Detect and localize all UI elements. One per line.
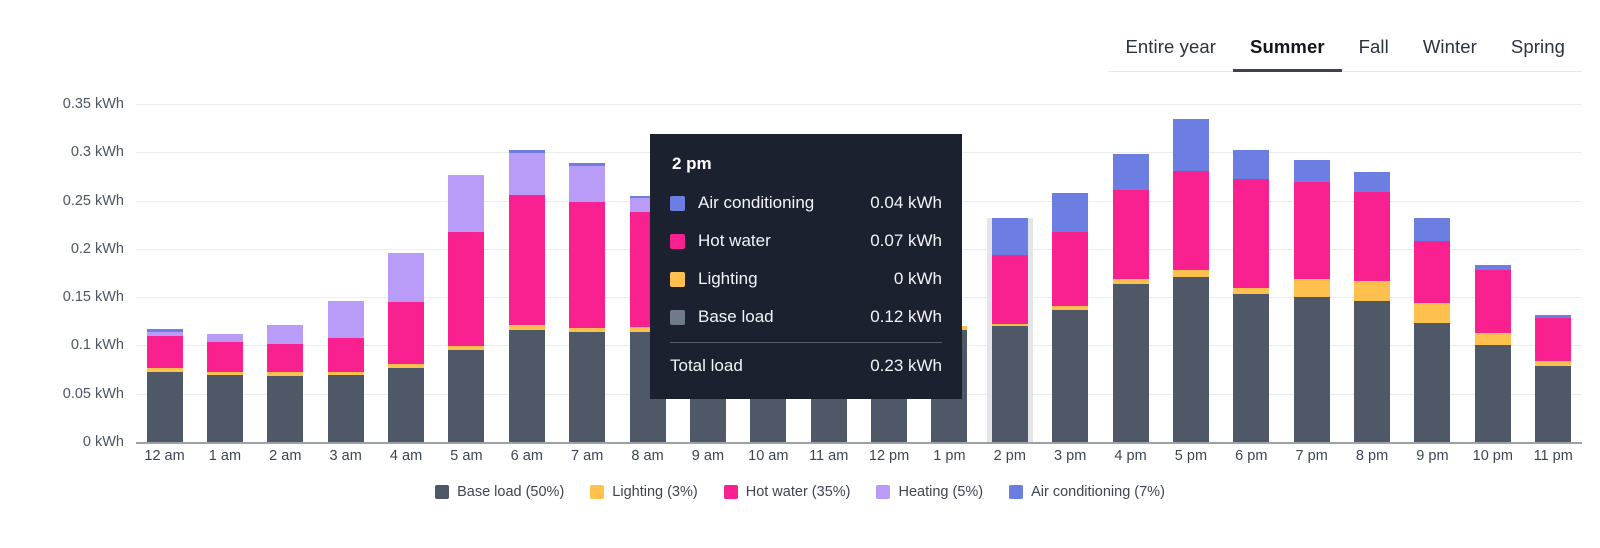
tab-fall[interactable]: Fall <box>1342 32 1406 72</box>
tooltip-rows: Air conditioning0.04 kWhHot water0.07 kW… <box>670 184 942 336</box>
x-tick-label: 11 am <box>800 448 857 464</box>
y-tick-label: 0.3 kWh <box>71 144 124 160</box>
x-tick-label: 7 pm <box>1283 448 1340 464</box>
tooltip-row: Base load0.12 kWh <box>670 298 942 336</box>
stacked-bar[interactable] <box>1113 154 1149 442</box>
x-tick-label: 5 am <box>438 448 495 464</box>
y-tick-label: 0.25 kWh <box>63 193 124 209</box>
bar-segment-hot-water <box>1354 192 1390 281</box>
tooltip-row: Lighting0 kWh <box>670 260 942 298</box>
bar-group[interactable] <box>1102 104 1159 442</box>
stacked-bar[interactable] <box>388 253 424 442</box>
bar-group[interactable] <box>1223 104 1280 442</box>
x-tick-label: 8 pm <box>1344 448 1401 464</box>
bar-segment-heating <box>267 325 303 343</box>
bar-segment-hot-water <box>569 202 605 329</box>
legend-swatch-icon <box>590 485 604 499</box>
x-tick-label: 10 am <box>740 448 797 464</box>
bar-group[interactable] <box>438 104 495 442</box>
axis-baseline <box>136 442 1582 444</box>
x-tick-label: 4 pm <box>1102 448 1159 464</box>
bar-segment-heating <box>207 334 243 342</box>
stacked-bar[interactable] <box>1052 193 1088 442</box>
legend-item-light[interactable]: Lighting (3%) <box>590 484 697 500</box>
bar-segment-base-load <box>328 375 364 442</box>
bar-segment-base-load <box>1475 345 1511 442</box>
bar-segment-hot-water <box>1233 179 1269 287</box>
bar-segment-hot-water <box>147 336 183 368</box>
bar-group[interactable] <box>257 104 314 442</box>
stacked-bar[interactable] <box>1294 160 1330 442</box>
bar-segment-lighting <box>1354 281 1390 301</box>
bar-segment-hot-water <box>992 255 1028 325</box>
x-tick-label: 2 pm <box>981 448 1038 464</box>
bar-segment-base-load <box>1113 284 1149 442</box>
tooltip-swatch-icon <box>670 234 685 249</box>
x-tick-label: 9 pm <box>1404 448 1461 464</box>
bar-segment-hot-water <box>1173 171 1209 270</box>
tooltip-separator <box>670 342 942 343</box>
bar-segment-base-load <box>267 376 303 442</box>
y-tick-label: 0.35 kWh <box>63 96 124 112</box>
bar-group[interactable] <box>196 104 253 442</box>
legend-item-hot[interactable]: Hot water (35%) <box>724 484 851 500</box>
tooltip-total-value: 0.23 kWh <box>870 356 942 376</box>
bar-segment-air-conditioning <box>1233 150 1269 179</box>
x-tick-label: 1 am <box>196 448 253 464</box>
bar-group[interactable] <box>1042 104 1099 442</box>
legend-label: Hot water (35%) <box>746 484 851 500</box>
bar-group[interactable] <box>1162 104 1219 442</box>
bar-segment-hot-water <box>448 232 484 346</box>
x-axis-labels: 12 am1 am2 am3 am4 am5 am6 am7 am8 am9 a… <box>136 448 1582 464</box>
bar-segment-hot-water <box>1475 270 1511 333</box>
bar-segment-air-conditioning <box>1052 193 1088 233</box>
legend-label: Base load (50%) <box>457 484 564 500</box>
stacked-bar[interactable] <box>448 175 484 442</box>
y-tick-label: 0.1 kWh <box>71 337 124 353</box>
stacked-bar[interactable] <box>1233 150 1269 442</box>
bar-segment-base-load <box>1535 366 1571 442</box>
bar-segment-hot-water <box>1535 318 1571 360</box>
bar-group[interactable] <box>1404 104 1461 442</box>
tooltip-total-row: Total load 0.23 kWh <box>670 347 942 385</box>
x-tick-label: 12 pm <box>861 448 918 464</box>
stacked-bar[interactable] <box>267 325 303 442</box>
stacked-bar[interactable] <box>207 334 243 442</box>
stacked-bar[interactable] <box>1173 119 1209 442</box>
bar-segment-hot-water <box>1113 190 1149 279</box>
bar-segment-lighting <box>1294 279 1330 297</box>
bar-tooltip: 2 pm Air conditioning0.04 kWhHot water0.… <box>650 134 962 399</box>
bar-segment-lighting <box>1233 288 1269 295</box>
bar-segment-hot-water <box>509 195 545 325</box>
stacked-bar[interactable] <box>328 301 364 442</box>
bar-segment-base-load <box>1354 301 1390 442</box>
tooltip-swatch-icon <box>670 272 685 287</box>
tab-summer[interactable]: Summer <box>1233 32 1342 72</box>
bar-segment-air-conditioning <box>1414 218 1450 241</box>
legend-item-base[interactable]: Base load (50%) <box>435 484 564 500</box>
tooltip-swatch-icon <box>670 310 685 325</box>
x-tick-label: 12 am <box>136 448 193 464</box>
bar-group[interactable] <box>981 104 1038 442</box>
x-tick-label: 2 am <box>257 448 314 464</box>
bar-segment-base-load <box>1294 297 1330 442</box>
x-tick-label: 9 am <box>679 448 736 464</box>
bar-segment-hot-water <box>267 344 303 373</box>
tooltip-row: Air conditioning0.04 kWh <box>670 184 942 222</box>
bar-segment-hot-water <box>328 338 364 372</box>
tooltip-row-value: 0.07 kWh <box>870 231 942 251</box>
bar-group[interactable] <box>498 104 555 442</box>
bar-segment-base-load <box>1233 294 1269 442</box>
x-tick-label: 4 am <box>378 448 435 464</box>
legend-item-ac[interactable]: Air conditioning (7%) <box>1009 484 1165 500</box>
bar-group[interactable] <box>136 104 193 442</box>
bar-segment-air-conditioning <box>992 218 1028 255</box>
y-tick-label: 0.15 kWh <box>63 289 124 305</box>
stacked-bar[interactable] <box>569 163 605 442</box>
legend-item-heat[interactable]: Heating (5%) <box>876 484 983 500</box>
tooltip-row-label: Hot water <box>698 231 771 251</box>
tooltip-row-label: Air conditioning <box>698 193 814 213</box>
bar-segment-hot-water <box>207 342 243 372</box>
bar-group[interactable] <box>559 104 616 442</box>
bar-segment-base-load <box>1052 310 1088 442</box>
bar-segment-base-load <box>1173 277 1209 442</box>
bar-segment-lighting <box>1475 333 1511 346</box>
tooltip-swatch-icon <box>670 196 685 211</box>
x-tick-label: 3 pm <box>1042 448 1099 464</box>
x-tick-label: 5 pm <box>1162 448 1219 464</box>
bar-segment-base-load <box>1414 323 1450 442</box>
season-tabs[interactable]: Entire yearSummerFallWinterSpring <box>1108 32 1582 72</box>
chart-legend[interactable]: Base load (50%)Lighting (3%)Hot water (3… <box>0 484 1600 500</box>
bar-segment-air-conditioning <box>1173 119 1209 171</box>
legend-label: Air conditioning (7%) <box>1031 484 1165 500</box>
x-tick-label: 1 pm <box>921 448 978 464</box>
legend-swatch-icon <box>876 485 890 499</box>
bar-segment-hot-water <box>388 302 424 364</box>
bar-segment-base-load <box>207 375 243 442</box>
legend-label: Lighting (3%) <box>612 484 697 500</box>
y-tick-label: 0 kWh <box>83 434 124 450</box>
tooltip-title: 2 pm <box>672 154 942 174</box>
stacked-bar[interactable] <box>1535 315 1571 442</box>
bar-segment-hot-water <box>1414 241 1450 303</box>
tooltip-row-label: Lighting <box>698 269 758 289</box>
bar-segment-base-load <box>448 350 484 442</box>
stacked-bar[interactable] <box>1475 265 1511 442</box>
y-tick-label: 0.05 kWh <box>63 386 124 402</box>
x-tick-label: 8 am <box>619 448 676 464</box>
legend-swatch-icon <box>1009 485 1023 499</box>
bar-group[interactable] <box>1525 104 1582 442</box>
bar-segment-base-load <box>569 332 605 442</box>
bar-segment-lighting <box>1173 270 1209 277</box>
x-tick-label: 7 am <box>559 448 616 464</box>
x-tick-label: 6 pm <box>1223 448 1280 464</box>
legend-swatch-icon <box>724 485 738 499</box>
bar-group[interactable] <box>1283 104 1340 442</box>
bar-segment-base-load <box>388 368 424 442</box>
stacked-bar[interactable] <box>992 218 1028 442</box>
stacked-bar[interactable] <box>1354 172 1390 442</box>
x-tick-label: 6 am <box>498 448 555 464</box>
tooltip-row-value: 0.12 kWh <box>870 307 942 327</box>
bar-segment-base-load <box>992 326 1028 442</box>
tooltip-row: Hot water0.07 kWh <box>670 222 942 260</box>
tooltip-total-label: Total load <box>670 356 743 376</box>
y-tick-label: 0.2 kWh <box>71 241 124 257</box>
bar-segment-base-load <box>147 372 183 442</box>
y-axis-labels: 0.35 kWh0.3 kWh0.25 kWh0.2 kWh0.15 kWh0.… <box>0 104 132 444</box>
bar-group[interactable] <box>1344 104 1401 442</box>
tooltip-row-value: 0 kWh <box>894 269 942 289</box>
bar-segment-heating <box>388 253 424 302</box>
bar-segment-base-load <box>509 330 545 442</box>
tab-entire-year[interactable]: Entire year <box>1108 32 1233 72</box>
bar-segment-heating <box>328 301 364 338</box>
tooltip-row-value: 0.04 kWh <box>870 193 942 213</box>
bar-segment-heating <box>448 175 484 233</box>
tab-spring[interactable]: Spring <box>1494 32 1582 72</box>
energy-breakdown-chart-page: Entire yearSummerFallWinterSpring 0.35 k… <box>0 0 1600 548</box>
bar-segment-lighting <box>1414 303 1450 323</box>
legend-swatch-icon <box>435 485 449 499</box>
bar-group[interactable] <box>378 104 435 442</box>
stacked-bar[interactable] <box>509 150 545 442</box>
x-tick-label: 3 am <box>317 448 374 464</box>
bar-segment-air-conditioning <box>1113 154 1149 190</box>
stacked-bar[interactable] <box>1414 218 1450 442</box>
x-tick-label: 10 pm <box>1464 448 1521 464</box>
bar-segment-air-conditioning <box>1294 160 1330 182</box>
tooltip-row-label: Base load <box>698 307 774 327</box>
legend-label: Heating (5%) <box>898 484 983 500</box>
bar-group[interactable] <box>317 104 374 442</box>
tab-winter[interactable]: Winter <box>1406 32 1494 72</box>
bar-segment-heating <box>569 166 605 202</box>
bar-segment-heating <box>509 153 545 195</box>
bar-segment-hot-water <box>1294 182 1330 279</box>
bar-group[interactable] <box>1464 104 1521 442</box>
bar-segment-hot-water <box>1052 232 1088 305</box>
stacked-bar[interactable] <box>147 329 183 442</box>
x-tick-label: 11 pm <box>1525 448 1582 464</box>
bar-segment-air-conditioning <box>1354 172 1390 192</box>
